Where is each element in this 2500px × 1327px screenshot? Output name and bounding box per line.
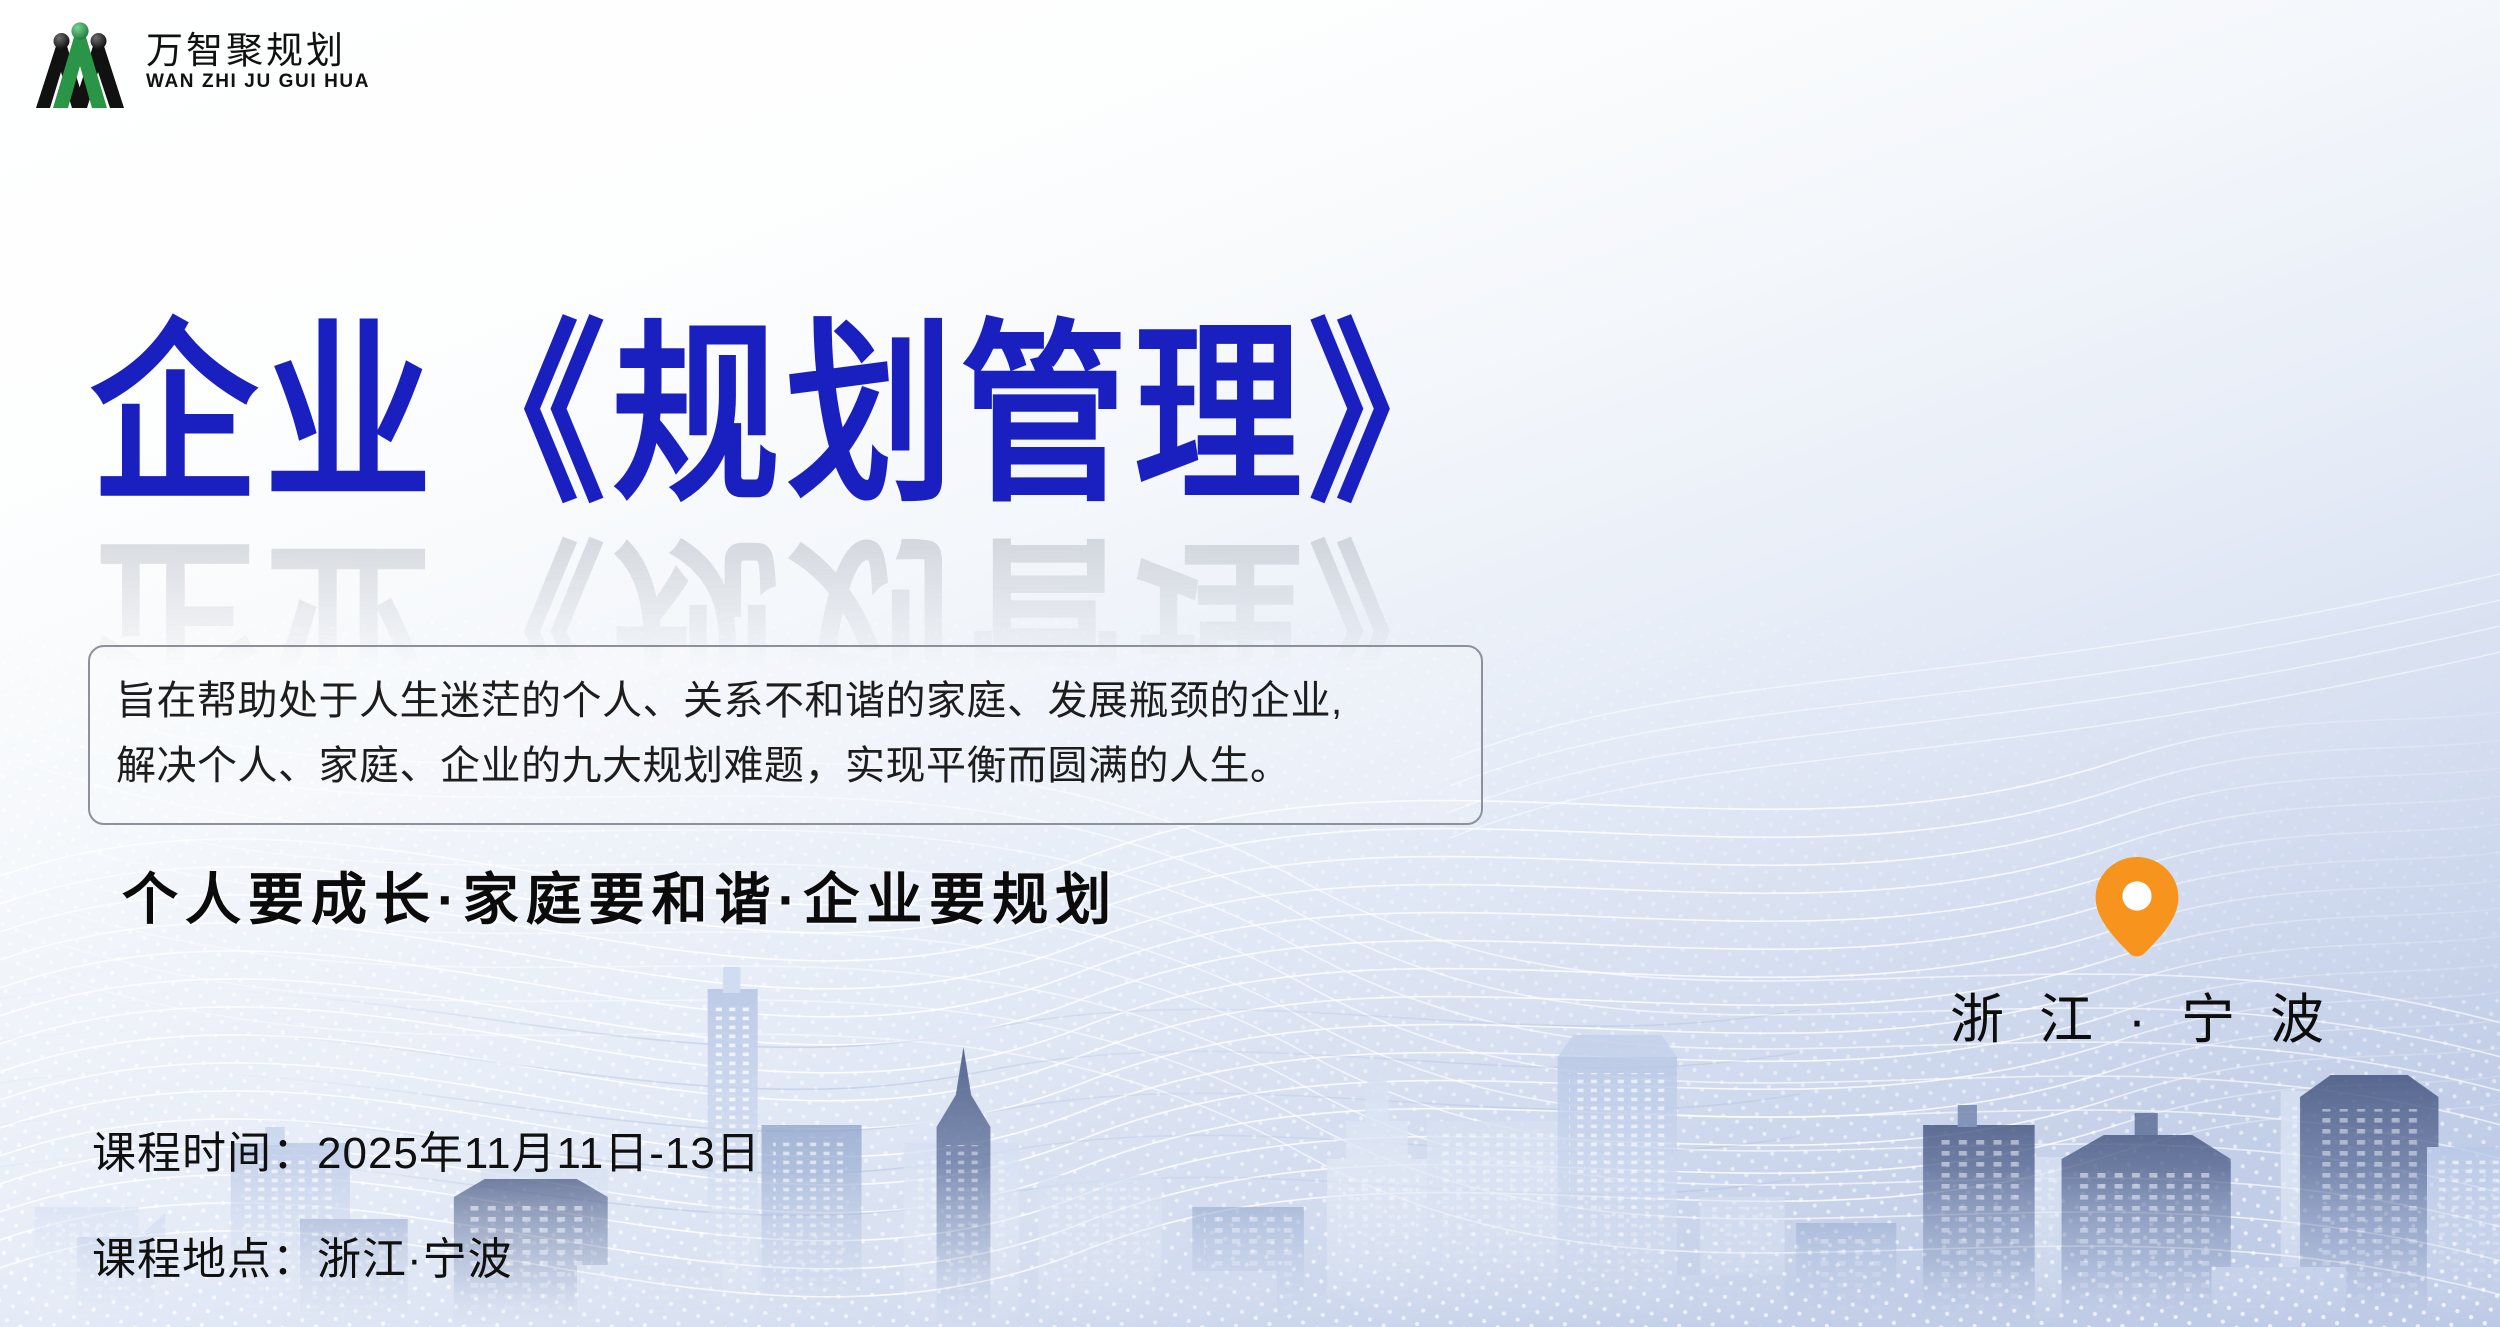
tagline: 个人要成长·家庭要和谐·企业要规划	[122, 855, 1118, 936]
brand-name-pinyin: WAN ZHI JU GUI HUA	[146, 72, 370, 91]
course-time: 课程时间：2025年11月11日-13日	[92, 1117, 761, 1181]
brand-name-cn: 万智聚规划	[146, 33, 370, 70]
location-block: 浙 江 · 宁 波	[1940, 855, 2334, 1054]
course-meta: 课程时间：2025年11月11日-13日 课程地点：浙江·宁波	[92, 1117, 761, 1287]
three-people-logo-icon	[28, 16, 132, 108]
description-line-1: 旨在帮助处于人生迷茫的个人、关系不和谐的家庭、发展瓶颈的企业,	[116, 669, 1455, 734]
location-label: 浙 江 · 宁 波	[1940, 975, 2334, 1054]
brand-logo[interactable]: 万智聚规划 WAN ZHI JU GUI HUA	[28, 16, 370, 108]
description-line-2: 解决个人、家庭、企业的九大规划难题，实现平衡而圆满的人生。	[116, 734, 1455, 799]
hero-title-block: 企业《规划管理》 企业《规划管理》	[90, 318, 1482, 486]
description-box: 旨在帮助处于人生迷茫的个人、关系不和谐的家庭、发展瓶颈的企业, 解决个人、家庭、…	[88, 645, 1483, 825]
course-place: 课程地点：浙江·宁波	[92, 1223, 761, 1287]
poster-canvas: 万智聚规划 WAN ZHI JU GUI HUA 企业《规划管理》 企业《规划管…	[0, 0, 2500, 1327]
map-pin-icon	[2093, 855, 2181, 959]
page-title: 企业《规划管理》	[90, 318, 1482, 513]
